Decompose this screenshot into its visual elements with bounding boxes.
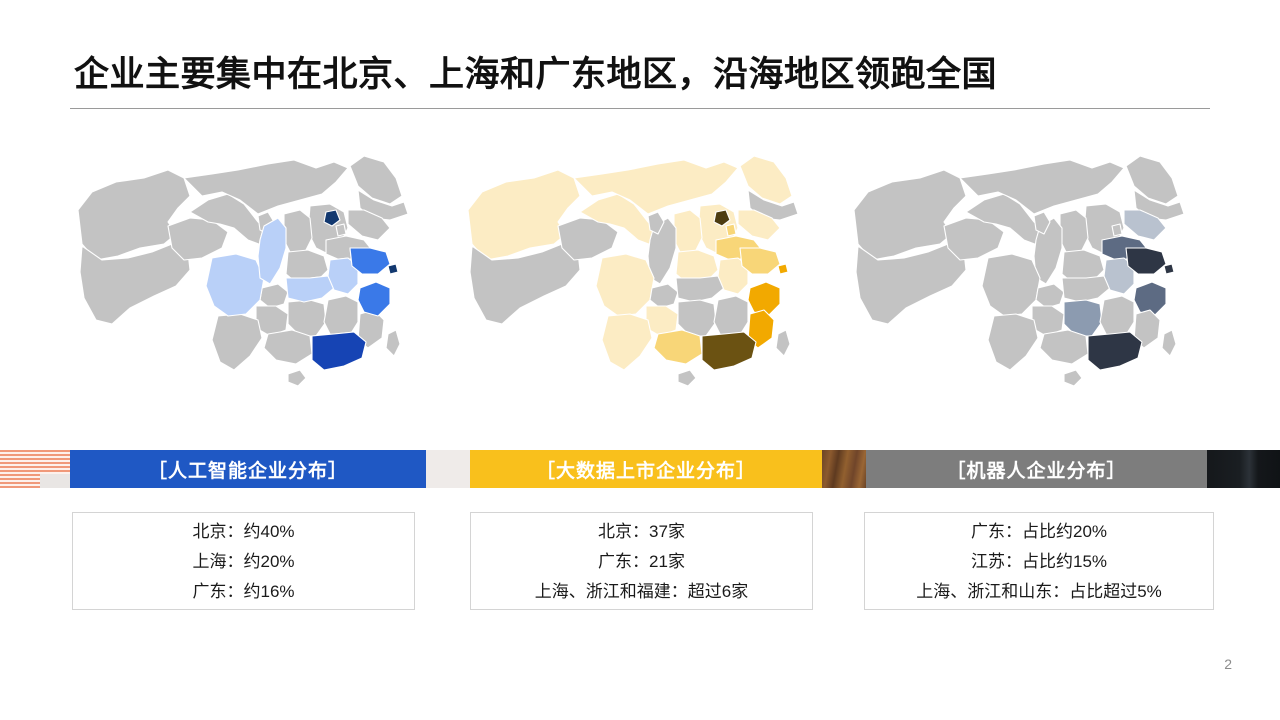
province-yunnan <box>212 314 262 370</box>
province-zhejiang-highlight <box>358 282 390 316</box>
province-guangdong-highlight <box>312 332 366 370</box>
province-hubei <box>676 276 724 302</box>
province-taiwan <box>386 330 400 356</box>
info-line: 广东：约16% <box>192 577 294 607</box>
province-guangxi <box>1040 330 1088 364</box>
stripe-shadow-decoration <box>40 474 70 488</box>
china-provinces-highlighted <box>1164 264 1174 274</box>
banner-robot[interactable]: ［机器人企业分布］ <box>866 450 1207 488</box>
info-line: 上海、浙江和福建：超过6家 <box>535 577 748 607</box>
page-title: 企业主要集中在北京、上海和广东地区，沿海地区领跑全国 <box>74 46 997 97</box>
province-shanxi <box>284 210 312 256</box>
info-line: 广东：21家 <box>598 547 685 577</box>
province-tibet <box>80 244 190 324</box>
map-ai-distribution <box>72 148 412 438</box>
province-tianjin <box>336 224 346 236</box>
province-heilongjiang <box>350 156 402 204</box>
province-hainan <box>678 370 696 386</box>
info-line: 广东：占比约20% <box>971 517 1107 547</box>
province-shanghai-highlight <box>778 264 788 274</box>
province-guangdong <box>1088 332 1142 370</box>
province-chongqing <box>1036 284 1064 308</box>
province-sichuan <box>596 254 654 316</box>
province-heilongjiang <box>740 156 792 204</box>
banner-robot-label: ［机器人企业分布］ <box>946 456 1126 483</box>
title-divider <box>70 108 1210 109</box>
province-tianjin <box>726 224 736 236</box>
map-bigdata-distribution <box>462 148 802 438</box>
province-hainan <box>288 370 306 386</box>
province-taiwan <box>776 330 790 356</box>
info-box-bigdata: 北京：37家 广东：21家 上海、浙江和福建：超过6家 <box>470 512 813 610</box>
paper-texture-decoration <box>426 450 470 488</box>
province-guangdong <box>702 332 756 370</box>
banner-bigdata[interactable]: ［大数据上市企业分布］ <box>470 450 822 488</box>
china-provinces-base <box>854 156 1184 386</box>
banner-strip: ［人工智能企业分布］ ［大数据上市企业分布］ ［机器人企业分布］ <box>0 450 1280 488</box>
province-tibet <box>470 244 580 324</box>
province-yunnan <box>602 314 652 370</box>
province-chongqing <box>650 284 678 308</box>
china-provinces-base <box>468 156 798 386</box>
page-number: 2 <box>1224 656 1232 672</box>
province-heilongjiang <box>1126 156 1178 204</box>
info-line: 江苏：占比约15% <box>971 547 1107 577</box>
info-line: 上海：约20% <box>192 547 294 577</box>
province-shanxi <box>674 210 702 256</box>
info-line: 上海、浙江和山东：占比超过5% <box>916 577 1162 607</box>
info-line: 北京：37家 <box>598 517 685 547</box>
province-yunnan <box>988 314 1038 370</box>
province-taiwan <box>1162 330 1176 356</box>
info-box-ai: 北京：约40% 上海：约20% 广东：约16% <box>72 512 415 610</box>
map-robot-distribution <box>848 148 1188 438</box>
dark-texture-decoration <box>1207 450 1280 488</box>
wood-texture-decoration <box>822 450 866 488</box>
info-box-robot: 广东：占比约20% 江苏：占比约15% 上海、浙江和山东：占比超过5% <box>864 512 1214 610</box>
province-guangxi <box>654 330 702 364</box>
province-shanxi <box>1060 210 1088 256</box>
province-tibet <box>856 244 966 324</box>
banner-ai[interactable]: ［人工智能企业分布］ <box>70 450 426 488</box>
province-sichuan-highlight <box>206 254 264 316</box>
province-tianjin <box>1112 224 1122 236</box>
province-shanghai-highlight <box>1164 264 1174 274</box>
banner-ai-label: ［人工智能企业分布］ <box>148 456 348 483</box>
province-hubei <box>1062 276 1110 302</box>
province-hubei-highlight <box>286 276 334 302</box>
province-shanghai-highlight <box>388 264 398 274</box>
province-guangxi <box>264 330 312 364</box>
info-line: 北京：约40% <box>192 517 294 547</box>
province-hainan <box>1064 370 1082 386</box>
province-chongqing <box>260 284 288 308</box>
banner-bigdata-label: ［大数据上市企业分布］ <box>536 456 756 483</box>
province-sichuan <box>982 254 1040 316</box>
